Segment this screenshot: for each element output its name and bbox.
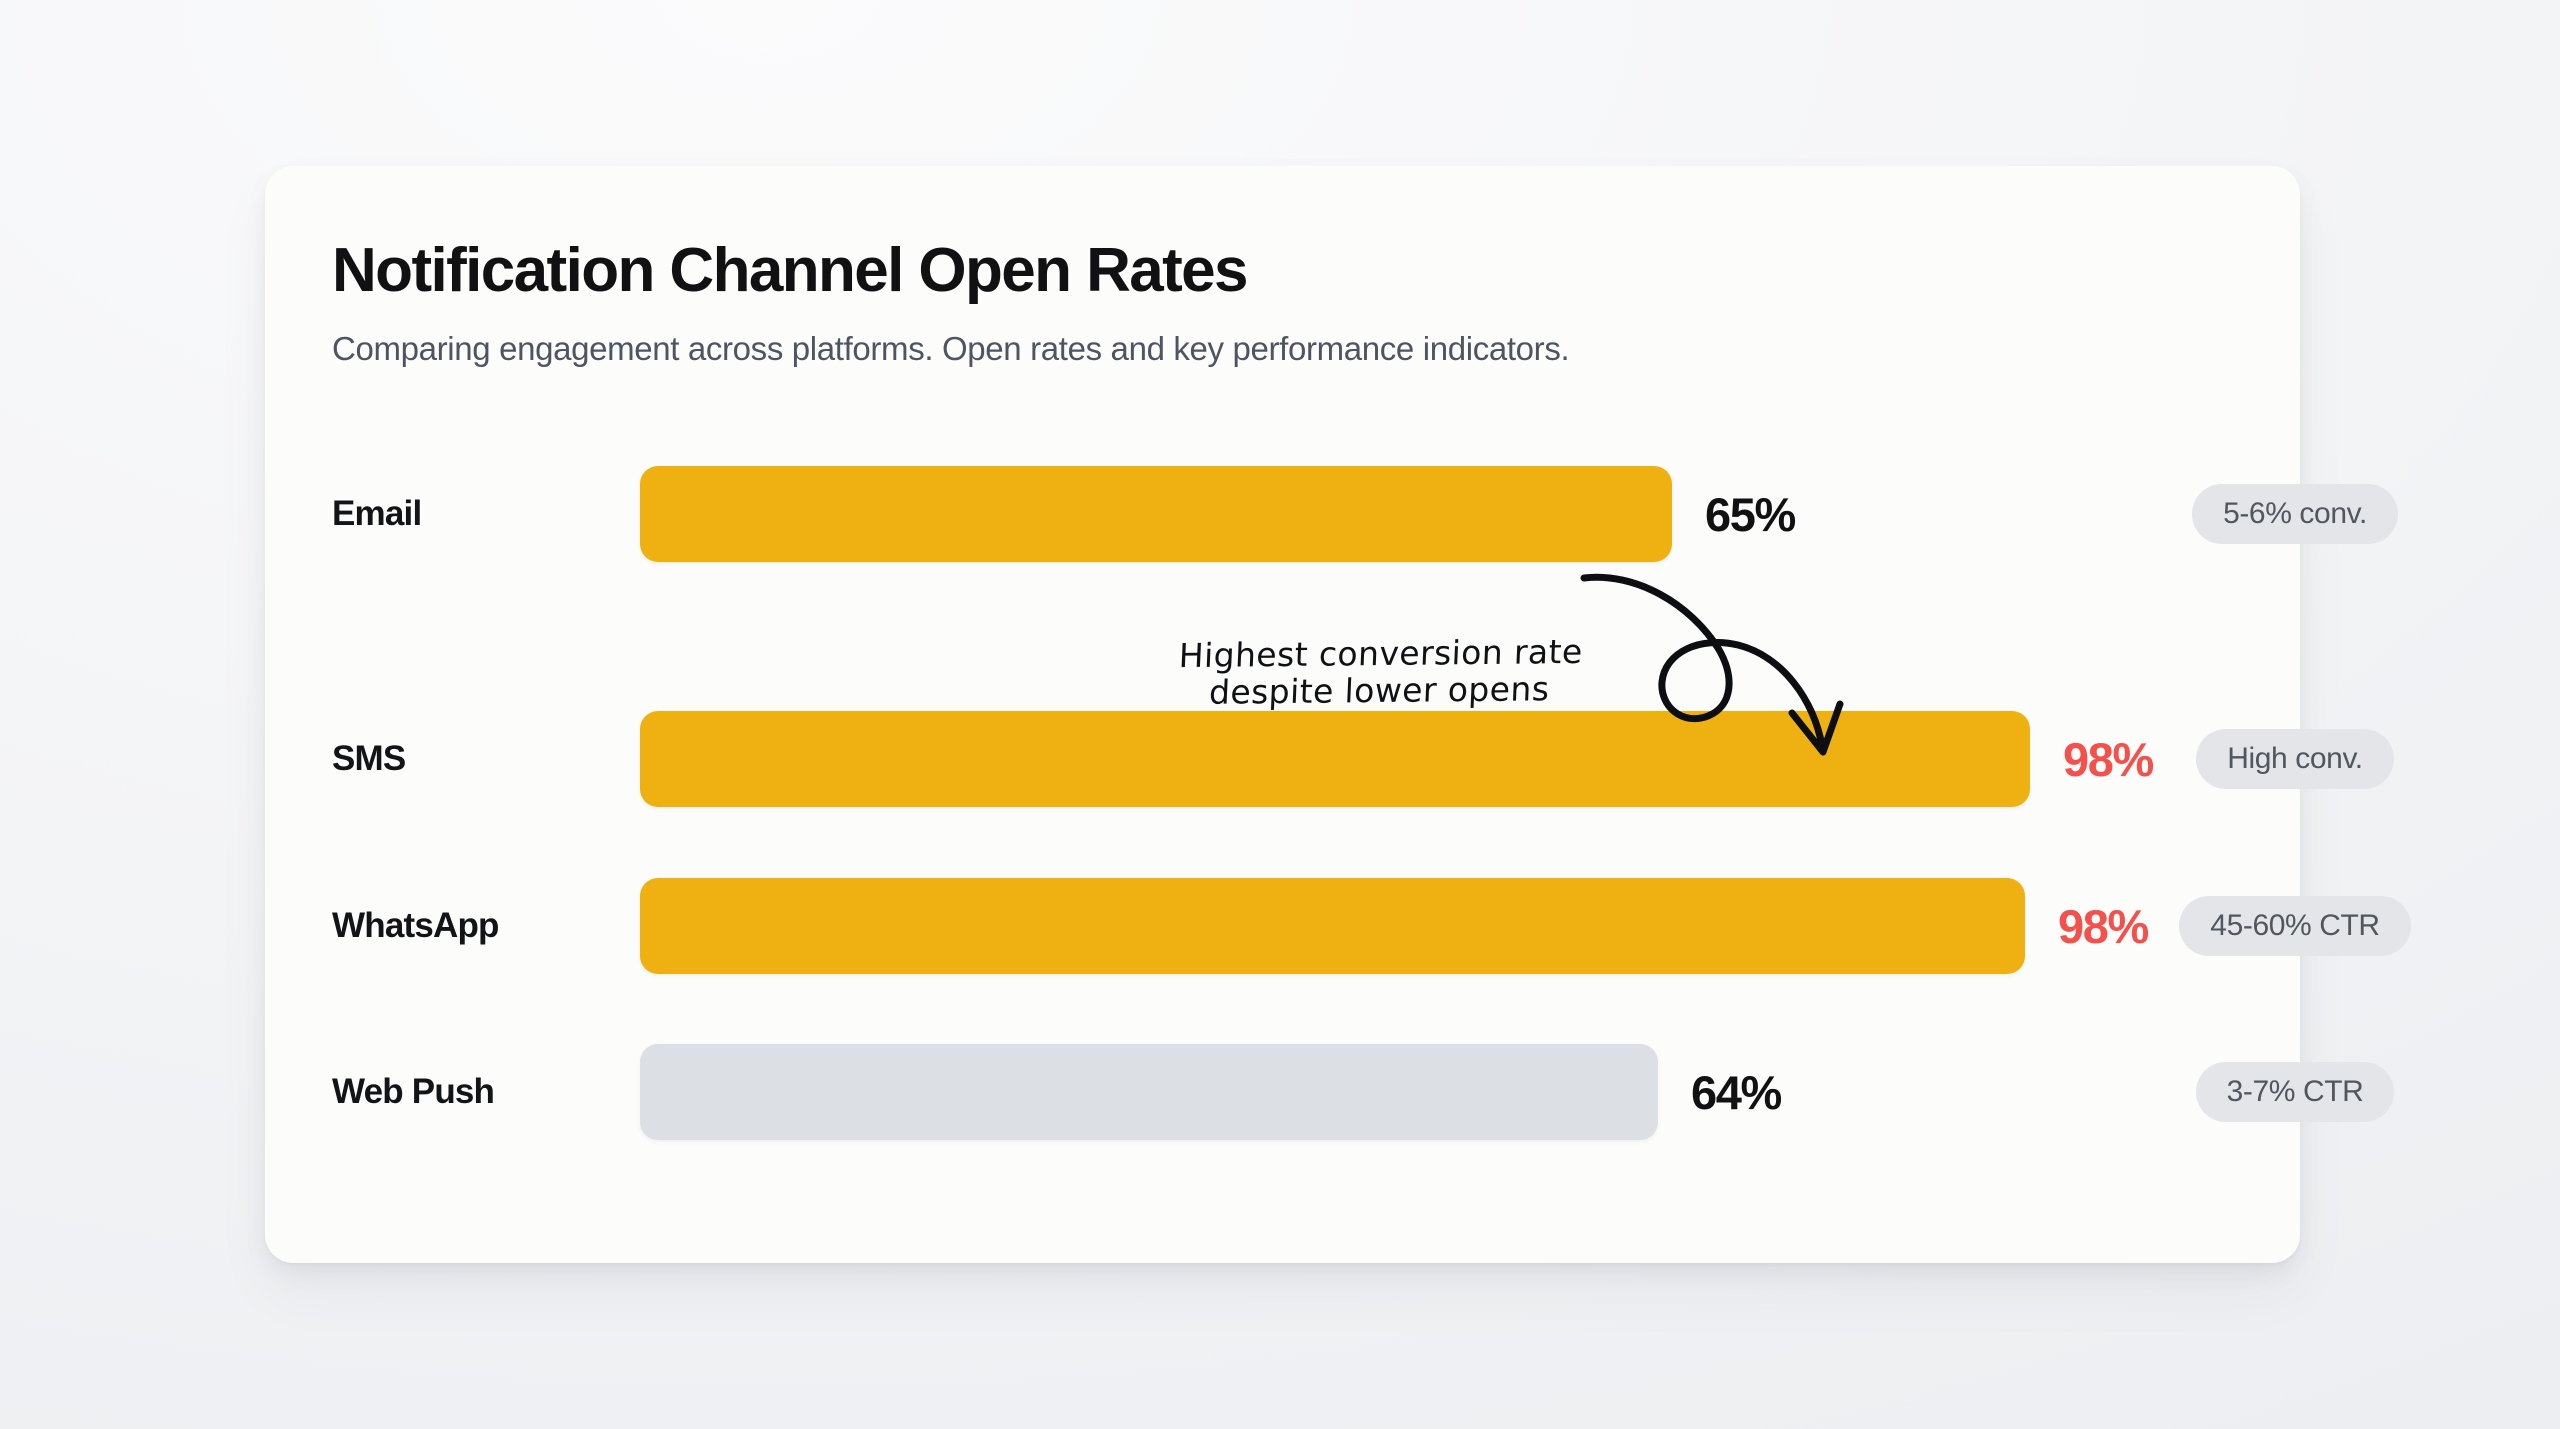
bar-row-label: WhatsApp bbox=[332, 878, 627, 974]
badge-cell: 45-60% CTR bbox=[2095, 878, 2495, 974]
status-badge: High conv. bbox=[2196, 729, 2394, 789]
chart-card: Notification Channel Open Rates Comparin… bbox=[265, 166, 2300, 1263]
page-title: Notification Channel Open Rates bbox=[332, 238, 2232, 304]
bar-track bbox=[640, 711, 2030, 807]
bar-track bbox=[640, 878, 2025, 974]
bar-track bbox=[640, 1044, 1658, 1140]
table-row[interactable]: WhatsApp 98% 45-60% CTR bbox=[265, 878, 2300, 974]
table-row[interactable]: Email 65% 5-6% conv. bbox=[265, 466, 2300, 562]
card-subtitle: Comparing engagement across platforms. O… bbox=[332, 328, 2232, 369]
card-header: Notification Channel Open Rates Comparin… bbox=[332, 238, 2232, 369]
bar-value-label: 65% bbox=[1705, 466, 1795, 562]
bar-row-label: Web Push bbox=[332, 1044, 627, 1140]
bar-value-label: 64% bbox=[1691, 1044, 1781, 1140]
badge-cell: High conv. bbox=[2095, 711, 2495, 807]
status-badge: 45-60% CTR bbox=[2179, 896, 2410, 956]
table-row[interactable]: SMS 98% High conv. bbox=[265, 711, 2300, 807]
bar-fill bbox=[640, 466, 1672, 562]
badge-cell: 3-7% CTR bbox=[2095, 1044, 2495, 1140]
badge-cell: 5-6% conv. bbox=[2095, 466, 2495, 562]
status-badge: 5-6% conv. bbox=[2192, 484, 2398, 544]
bar-row-label: Email bbox=[332, 466, 627, 562]
bar-fill bbox=[640, 878, 2025, 974]
bar-track bbox=[640, 466, 1672, 562]
bar-fill bbox=[640, 1044, 1658, 1140]
table-row[interactable]: Web Push 64% 3-7% CTR bbox=[265, 1044, 2300, 1140]
status-badge: 3-7% CTR bbox=[2196, 1062, 2395, 1122]
bar-row-label: SMS bbox=[332, 711, 627, 807]
bar-fill bbox=[640, 711, 2030, 807]
